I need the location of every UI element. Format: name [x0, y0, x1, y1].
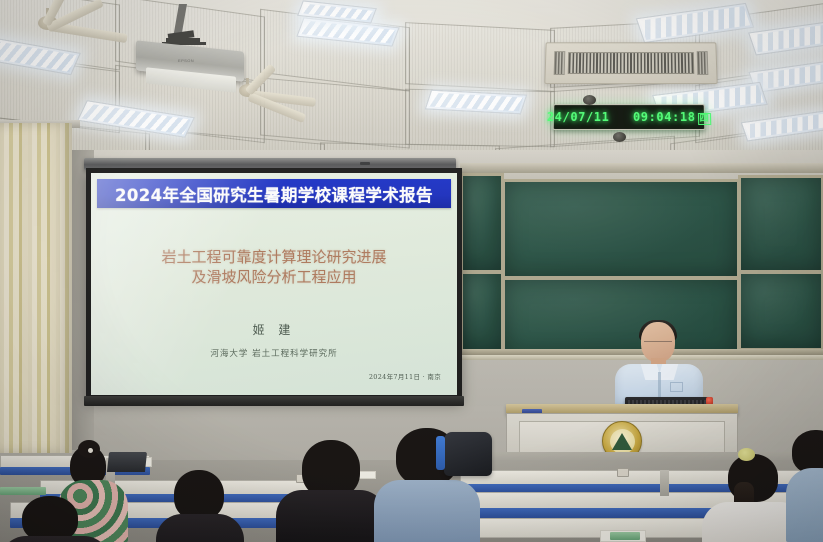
- projection-screen-bottom-bar: [84, 396, 464, 406]
- clock-display: 24/07/11 09:04:18四: [547, 110, 712, 125]
- emblem-inner: [610, 429, 635, 454]
- slide-title: 岩土工程可靠度计算理论研究进展 及滑坡风险分析工程应用: [91, 247, 457, 287]
- green-notebook: [0, 487, 46, 495]
- desk-leg: [660, 470, 669, 496]
- green-chalkboard-panel: [460, 173, 504, 273]
- slide-title-line1: 岩土工程可靠度计算理论研究进展: [91, 247, 457, 267]
- projection-screen: 2024年全国研究生暑期学校课程学术报告 岩土工程可靠度计算理论研究进展 及滑坡…: [86, 168, 462, 400]
- clock-time: 09:04:18: [633, 110, 696, 124]
- clock-day-of-week: 四: [697, 113, 711, 125]
- slide-author: 姬 建: [91, 321, 457, 338]
- slide-affiliation: 河海大学 岩土工程科学研究所: [91, 347, 457, 359]
- wall-power-socket[interactable]: [617, 468, 629, 477]
- slide-title-line2: 及滑坡风险分析工程应用: [91, 267, 457, 287]
- backpack-strap: [436, 436, 445, 470]
- slide-banner-text: 2024年全国研究生暑期学校课程学术报告: [115, 182, 433, 206]
- clock-date: 24/07/11: [547, 110, 610, 124]
- presentation-slide: 2024年全国研究生暑期学校课程学术报告 岩土工程可靠度计算理论研究进展 及滑坡…: [91, 173, 457, 395]
- ceiling-air-conditioner: [544, 42, 717, 84]
- emblem-triangle-icon: [612, 433, 632, 450]
- audience-member-7: [786, 430, 823, 542]
- green-chalkboard-panel: [502, 179, 740, 279]
- window-curtain: [0, 123, 72, 453]
- audience-member-5: [0, 496, 110, 542]
- audience-member-3: [276, 440, 386, 542]
- presenter-glasses: [644, 341, 672, 347]
- audience-member-2: [156, 470, 244, 542]
- led-wall-clock: 24/07/11 09:04:18四: [553, 104, 706, 130]
- ceiling-projector: EPSON: [136, 36, 256, 112]
- screen-pull-knob[interactable]: [360, 162, 370, 165]
- presenter-shirt-pocket: [670, 382, 683, 392]
- green-notebook: [610, 532, 640, 540]
- green-chalkboard-panel: [460, 271, 504, 353]
- audience-laptop[interactable]: [107, 452, 147, 472]
- backpack: [444, 432, 492, 476]
- presenter: [615, 322, 703, 408]
- clock-mount-bracket: [583, 95, 596, 105]
- slide-date-place: 2024年7月11日 · 南京: [369, 371, 441, 381]
- projector-brand-label: EPSON: [178, 58, 194, 63]
- slide-banner: 2024年全国研究生暑期学校课程学术报告: [97, 179, 451, 208]
- green-chalkboard-panel: [738, 175, 823, 273]
- ceiling-tile: [405, 22, 555, 92]
- board-top-frame: [460, 163, 823, 173]
- green-chalkboard-panel: [738, 271, 823, 351]
- ceiling-sensor: [613, 132, 626, 142]
- lecture-hall-scene: EPSON 24/07/11 09:04:18四: [0, 0, 823, 542]
